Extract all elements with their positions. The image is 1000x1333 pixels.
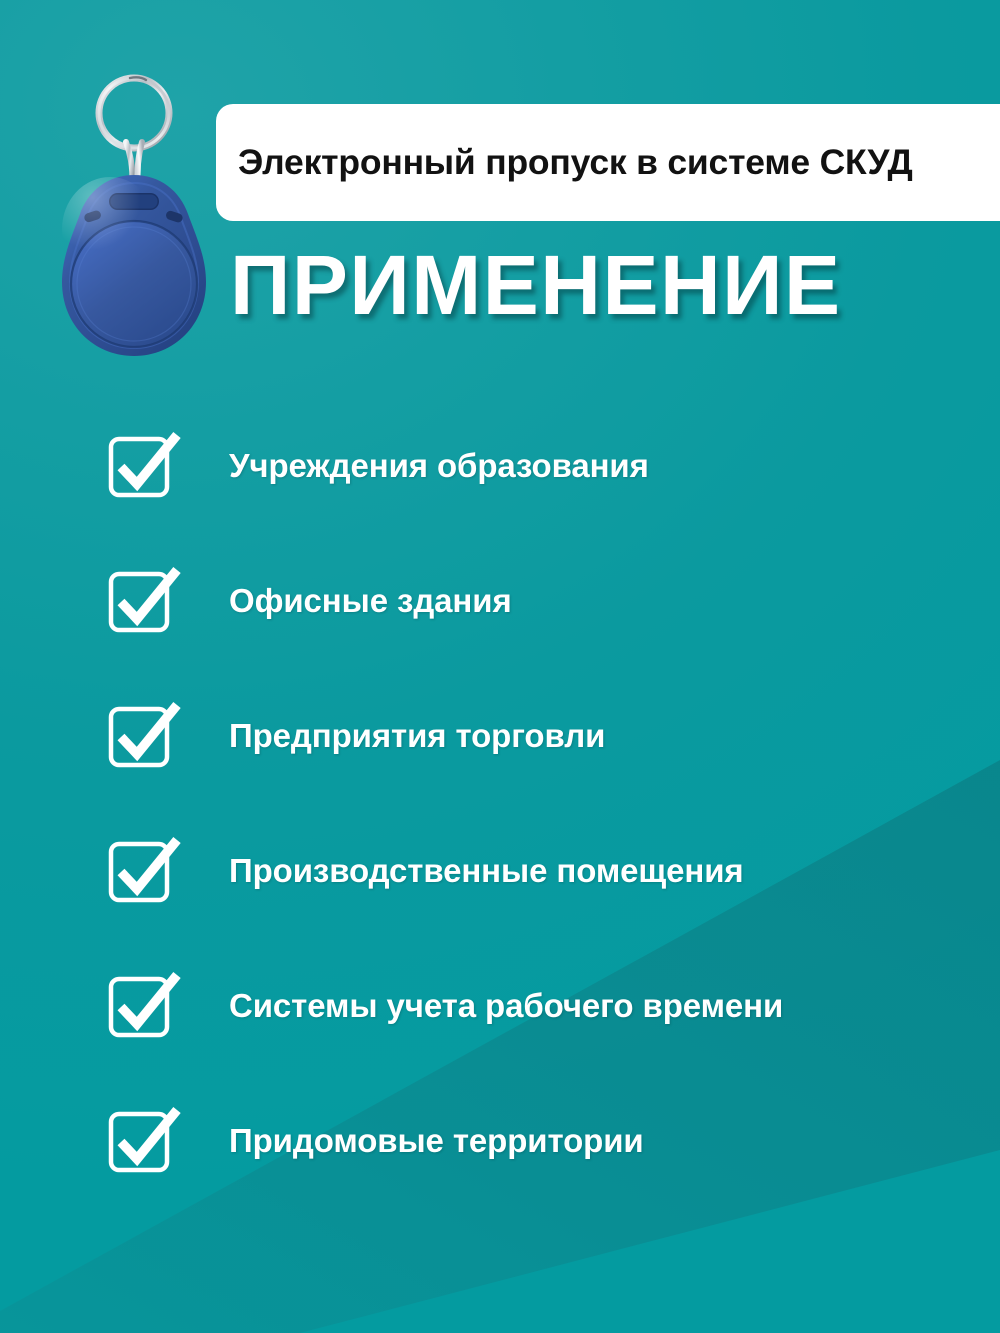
checkbox-checked-icon	[108, 839, 178, 903]
checkbox-checked-icon	[108, 569, 178, 633]
list-item: Придомовые территории	[0, 1073, 1000, 1208]
list-item-label: Офисные здания	[229, 582, 512, 620]
fob-body	[62, 175, 206, 356]
subtitle-banner: Электронный пропуск в системе СКУД	[216, 104, 1000, 221]
page-title: ПРИМЕНЕНИЕ	[230, 243, 842, 327]
list-item-label: Учреждения образования	[229, 447, 649, 485]
checkbox-checked-icon	[108, 434, 178, 498]
checkbox-checked-icon	[108, 974, 178, 1038]
subtitle-text: Электронный пропуск в системе СКУД	[238, 142, 913, 183]
list-item: Офисные здания	[0, 533, 1000, 668]
list-item-label: Предприятия торговли	[229, 717, 605, 755]
list-item: Производственные помещения	[0, 803, 1000, 938]
rfid-keyfob-image	[48, 44, 238, 364]
application-list: Учреждения образования Офисные здания Пр…	[0, 398, 1000, 1208]
list-item-label: Придомовые территории	[229, 1122, 644, 1160]
split-ring	[99, 77, 169, 148]
list-item: Учреждения образования	[0, 398, 1000, 533]
list-item: Системы учета рабочего времени	[0, 938, 1000, 1073]
list-item-label: Системы учета рабочего времени	[229, 987, 783, 1025]
checkbox-checked-icon	[108, 1109, 178, 1173]
list-item: Предприятия торговли	[0, 668, 1000, 803]
promo-poster: Электронный пропуск в системе СКУД ПРИМЕ…	[0, 0, 1000, 1333]
list-item-label: Производственные помещения	[229, 852, 744, 890]
checkbox-checked-icon	[108, 704, 178, 768]
